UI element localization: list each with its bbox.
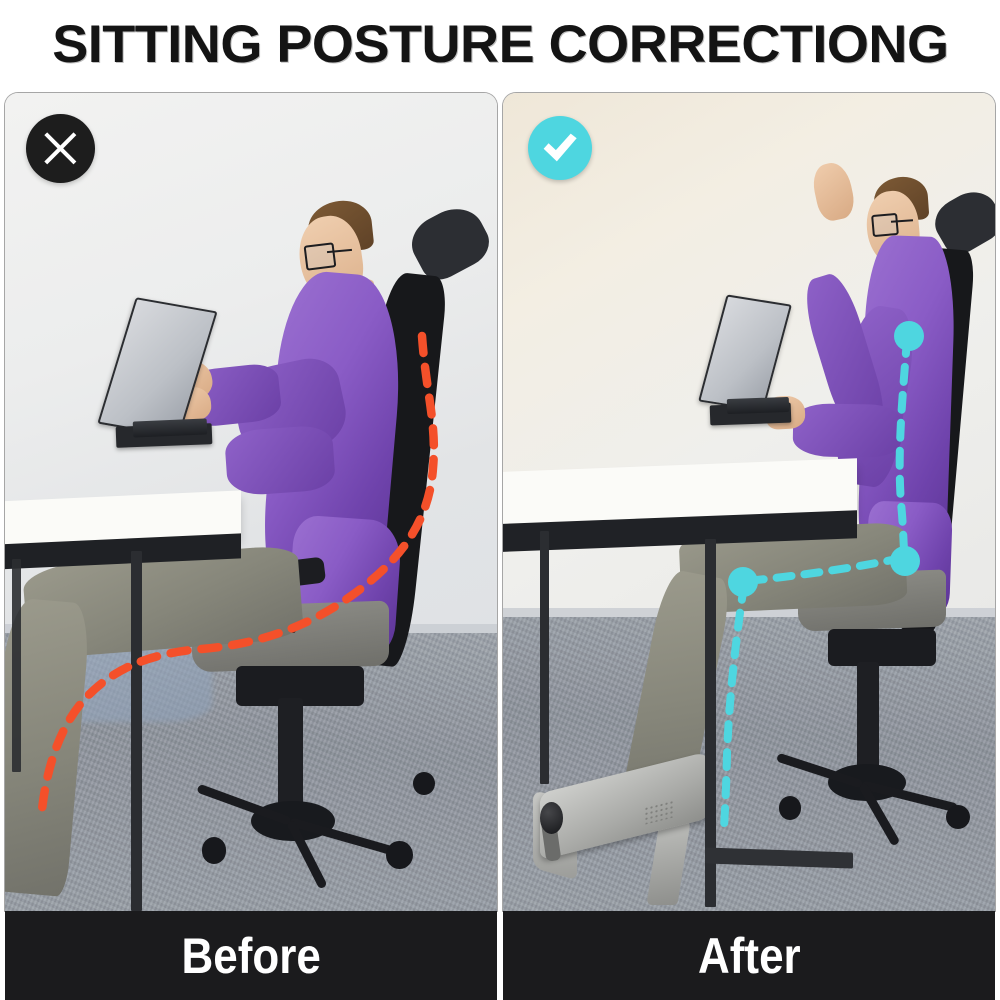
panel-before[interactable] [5, 93, 497, 911]
comparison-panels: Before After [0, 88, 1000, 1000]
glasses-icon [871, 213, 898, 237]
page-title: SITTING POSTURE CORRECTIONG [52, 18, 948, 71]
glasses-icon [304, 242, 336, 271]
footrest-support-leg [646, 821, 690, 905]
desk-leg [12, 559, 20, 772]
desk-leg [131, 551, 142, 911]
photo-after [503, 93, 995, 911]
photo-before [5, 93, 497, 911]
status-badge-correct [528, 116, 592, 180]
check-icon [540, 128, 580, 168]
ergonomic-footrest [533, 772, 715, 907]
poster-root: SITTING POSTURE CORRECTIONG [0, 0, 1000, 1000]
chair-mechanism [828, 629, 936, 667]
cross-icon [39, 127, 82, 170]
chair-caster [413, 772, 435, 795]
label-bar-before: Before [5, 911, 497, 1000]
chair-gas-cylinder [278, 698, 303, 813]
forearm-on-desk [793, 403, 902, 458]
chair-caster [386, 841, 413, 869]
chair-caster [779, 796, 802, 820]
label-bar-after: After [503, 911, 995, 1000]
chair-caster [202, 837, 227, 863]
laptop-keyboard [727, 397, 789, 414]
label-before: Before [181, 931, 320, 981]
chair-gas-cylinder [857, 662, 879, 777]
label-after: After [698, 931, 801, 981]
status-badge-incorrect [26, 114, 95, 183]
desk-leg [540, 531, 549, 785]
upper-arm-far [224, 425, 337, 498]
poster-title-bar: SITTING POSTURE CORRECTIONG [0, 0, 1000, 88]
panel-after[interactable] [503, 93, 995, 911]
